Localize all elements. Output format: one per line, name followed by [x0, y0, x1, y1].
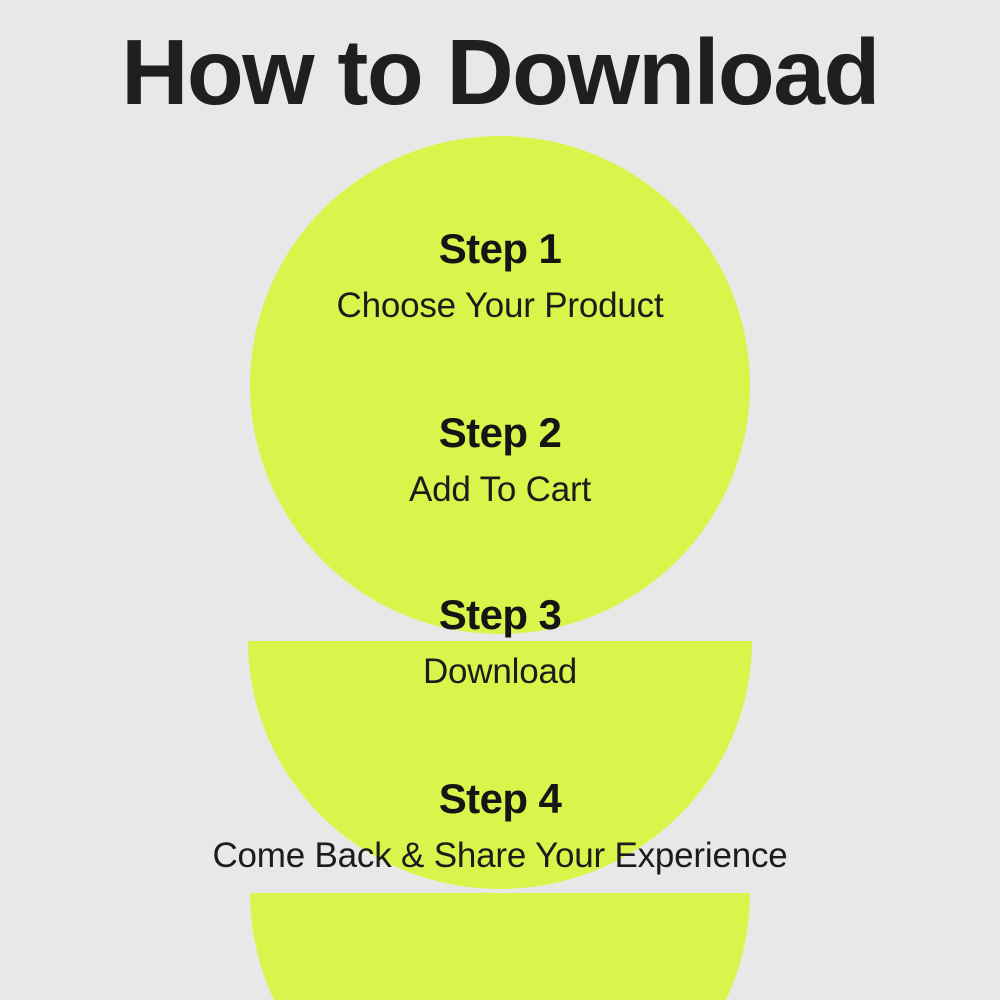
- steps-list: Step 1 Choose Your Product Step 2 Add To…: [0, 0, 1000, 1000]
- step-2-label: Step 2: [0, 412, 1000, 454]
- step-4-label: Step 4: [0, 778, 1000, 820]
- how-to-download-poster: How to Download Step 1 Choose Your Produ…: [0, 0, 1000, 1000]
- step-item-2: Step 2 Add To Cart: [0, 412, 1000, 507]
- step-1-label: Step 1: [0, 228, 1000, 270]
- step-4-description: Come Back & Share Your Experience: [0, 838, 1000, 873]
- step-3-label: Step 3: [0, 594, 1000, 636]
- step-1-description: Choose Your Product: [0, 288, 1000, 323]
- page-title: How to Download: [0, 26, 1000, 119]
- step-3-description: Download: [0, 654, 1000, 689]
- step-2-description: Add To Cart: [0, 472, 1000, 507]
- step-item-3: Step 3 Download: [0, 594, 1000, 689]
- step-item-1: Step 1 Choose Your Product: [0, 228, 1000, 323]
- step-item-4: Step 4 Come Back & Share Your Experience: [0, 778, 1000, 873]
